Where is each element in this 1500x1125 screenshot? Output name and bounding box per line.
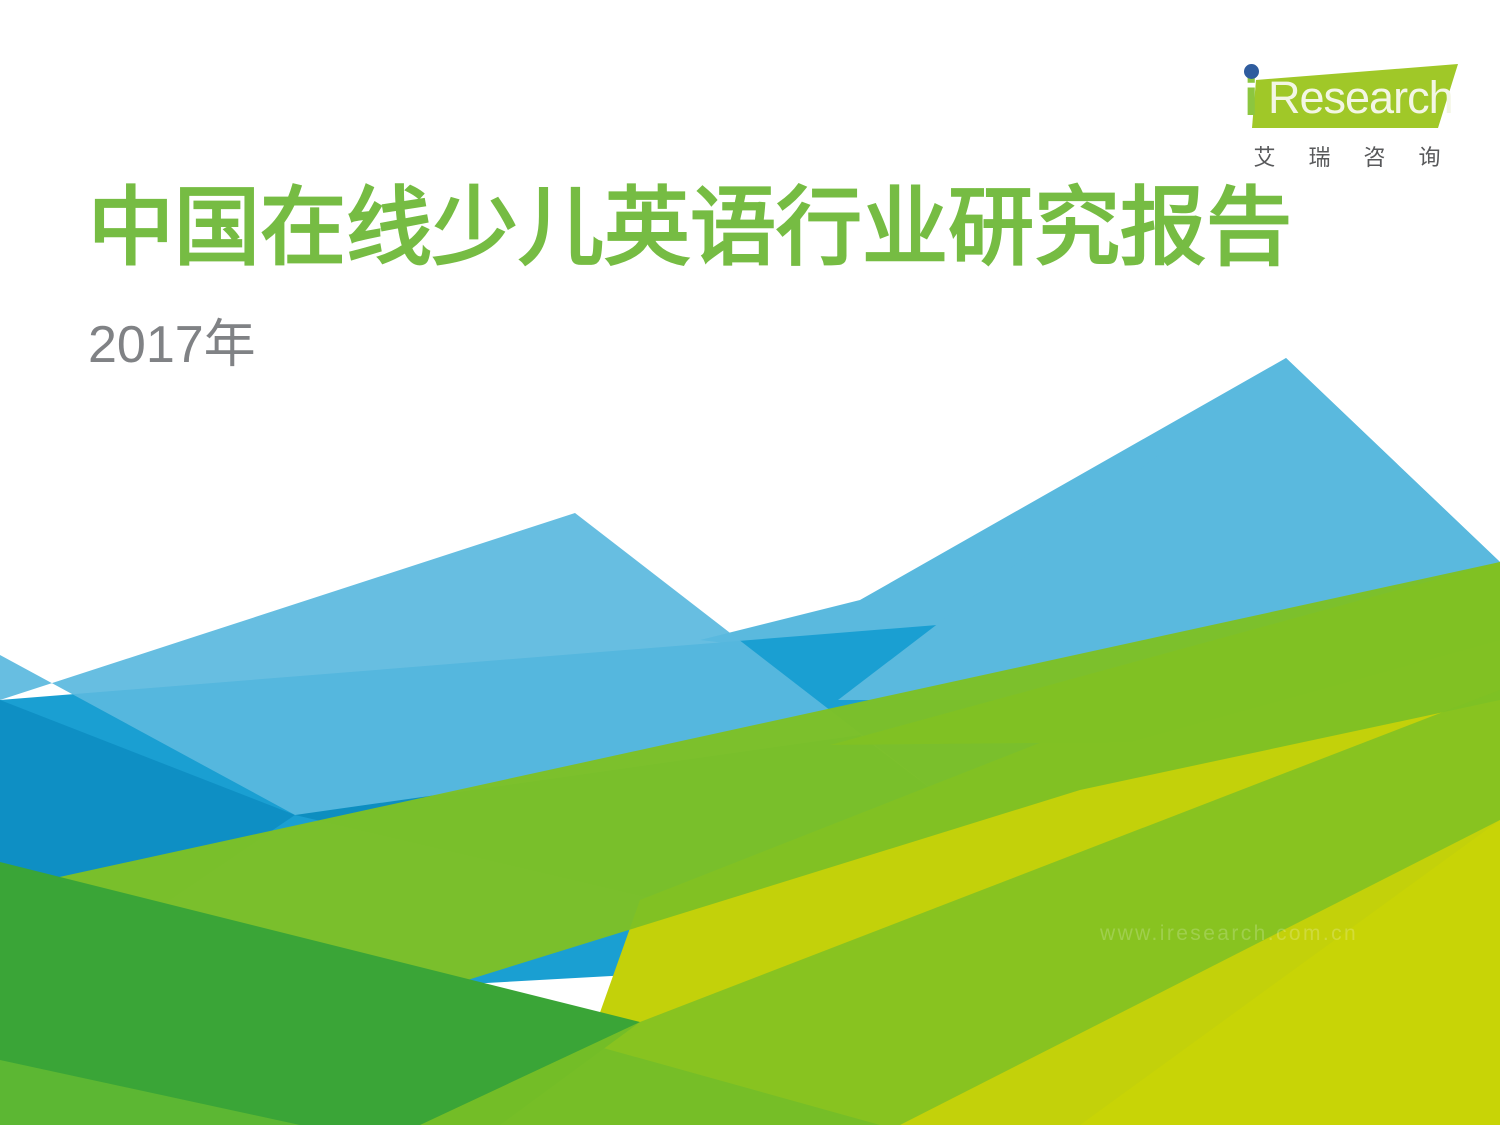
report-year-label: 2017年 [88, 316, 1418, 374]
report-cover-slide: Research i 艾 瑞 咨 询 中国在线少儿英语行业研究报告 2017年 … [0, 0, 1500, 1125]
iresearch-wordmark: Research i [1222, 58, 1472, 136]
logo-research-text: Research [1268, 74, 1453, 122]
headline-block: 中国在线少儿英语行业研究报告 2017年 [88, 176, 1418, 374]
page-title: 中国在线少儿英语行业研究报告 [88, 176, 1418, 280]
site-watermark: www.iresearch.com.cn [1100, 922, 1358, 946]
logo-i-stem: i [1244, 72, 1258, 124]
iresearch-logo: Research i 艾 瑞 咨 询 [1222, 58, 1472, 180]
logo-company-name-cn: 艾 瑞 咨 询 [1232, 140, 1462, 172]
logo-i-dot-icon [1244, 64, 1259, 79]
